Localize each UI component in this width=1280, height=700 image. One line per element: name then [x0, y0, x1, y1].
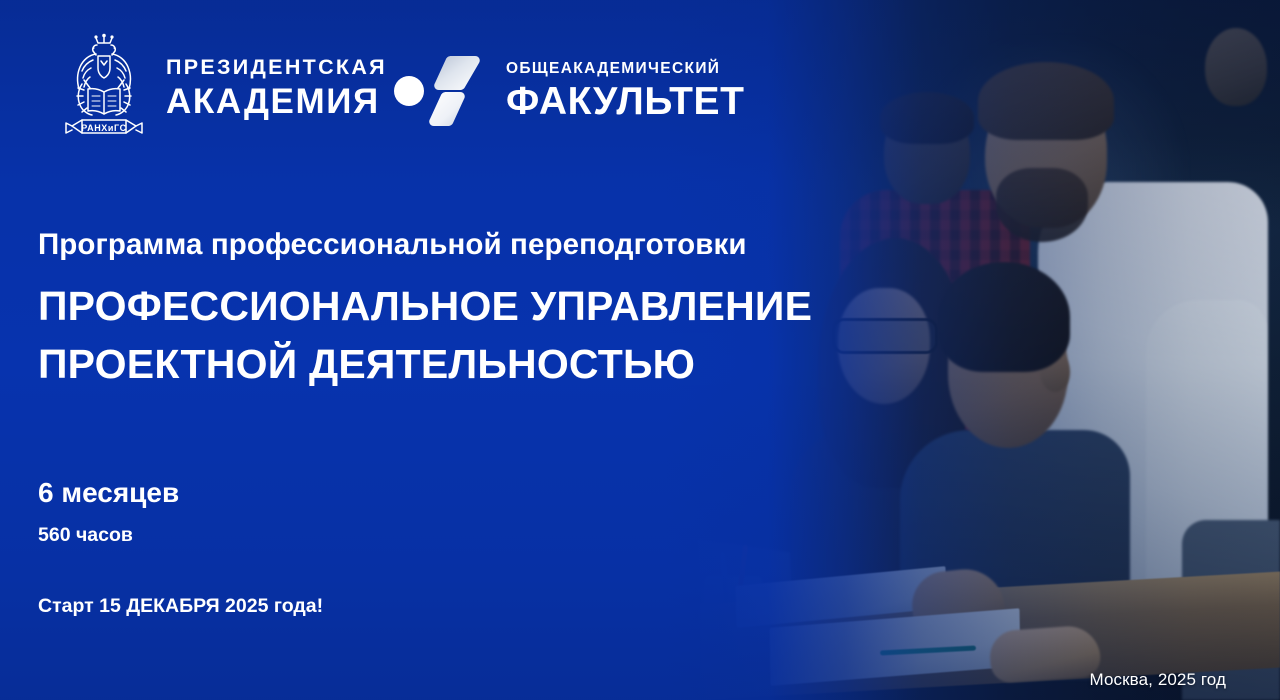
page-title-line2: ПРОЕКТНОЙ ДЕЯТЕЛЬНОСТЬЮ [38, 335, 878, 393]
ranepa-ribbon-text: РАНХиГС [81, 123, 126, 133]
presentation-slide: РАНХиГС ПРЕЗИДЕНТСКАЯ АКАДЕМИЯ [0, 0, 1280, 700]
faculty-wordmark: ОБЩЕАКАДЕМИЧЕСКИЙ ФАКУЛЬТЕТ [506, 61, 745, 121]
fact-duration: 6 месяцев [38, 478, 323, 509]
page-title-line1: ПРОФЕССИОНАЛЬНОЕ УПРАВЛЕНИЕ [38, 277, 878, 335]
faculty-wordmark-line2: ФАКУЛЬТЕТ [506, 82, 745, 121]
fact-start-date: Старт 15 ДЕКАБРЯ 2025 года! [38, 596, 323, 617]
ranepa-wordmark: ПРЕЗИДЕНТСКАЯ АКАДЕМИЯ [166, 57, 387, 119]
fact-hours: 560 часов [38, 525, 323, 546]
ranepa-wordmark-line2: АКАДЕМИЯ [166, 84, 387, 119]
faculty-wordmark-line1: ОБЩЕАКАДЕМИЧЕСКИЙ [506, 61, 745, 77]
ranepa-emblem-icon: РАНХиГС [60, 32, 148, 144]
program-kicker: Программа профессиональной переподготовк… [38, 228, 878, 261]
footer-caption: Москва, 2025 год [1090, 670, 1226, 690]
page-title: ПРОФЕССИОНАЛЬНОЕ УПРАВЛЕНИЕ ПРОЕКТНОЙ ДЕ… [38, 277, 878, 393]
faculty-chevron-icon [393, 50, 490, 132]
title-block: Программа профессиональной переподготовк… [38, 228, 878, 393]
logo-bar: РАНХиГС ПРЕЗИДЕНТСКАЯ АКАДЕМИЯ [0, 0, 1280, 170]
ranepa-wordmark-line1: ПРЕЗИДЕНТСКАЯ [166, 57, 387, 79]
ranepa-logo-lockup: РАНХиГС ПРЕЗИДЕНТСКАЯ АКАДЕМИЯ [60, 32, 387, 144]
program-facts: 6 месяцев 560 часов Старт 15 ДЕКАБРЯ 202… [38, 478, 323, 618]
faculty-logo-lockup: ОБЩЕАКАДЕМИЧЕСКИЙ ФАКУЛЬТЕТ [393, 50, 745, 132]
